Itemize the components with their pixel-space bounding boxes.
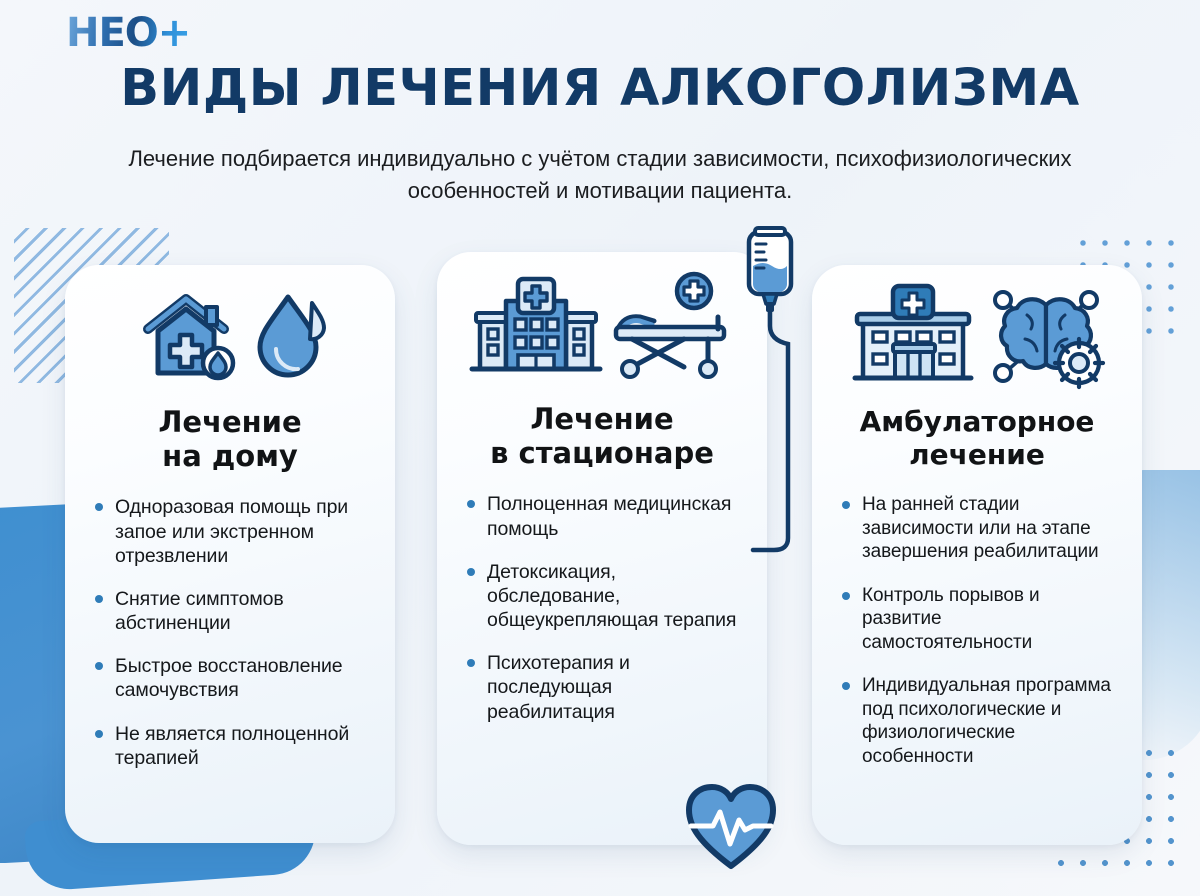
card-title-line-2: лечение <box>909 438 1045 471</box>
bullet-item: Контроль порывов и развитие самостоятель… <box>840 584 1116 655</box>
card-bullet-list: Одноразовая помощь при запое или экстрен… <box>89 495 371 770</box>
home-medical-icon <box>134 287 238 383</box>
card-title-line-1: Лечение <box>158 405 301 439</box>
bullet-item: Полноценная медицинская помощь <box>465 492 741 540</box>
card-title-line-1: Лечение <box>530 402 673 436</box>
card-title: Лечение на дому <box>89 405 371 473</box>
hospital-building-icon <box>470 275 602 379</box>
iv-drip-icon <box>735 228 805 558</box>
card-home-treatment[interactable]: Лечение на дому Одноразовая помощь при з… <box>65 265 395 843</box>
card-icon-group <box>836 265 1118 405</box>
bullet-item: Быстрое восстановление самочувствия <box>93 654 369 702</box>
card-bullet-list: На ранней стадии зависимости или на этап… <box>836 493 1118 768</box>
bullet-item: Снятие симптомов абстиненции <box>93 587 369 635</box>
card-inpatient-treatment[interactable]: Лечение в стационаре Полноценная медицин… <box>437 252 767 845</box>
card-title-line-2: в стационаре <box>490 436 714 470</box>
hospital-gurney-icon <box>608 271 734 383</box>
brain-gear-icon <box>987 283 1105 387</box>
bullet-item: Психотерапия и последующая реабилитация <box>465 651 741 724</box>
card-icon-group <box>461 252 743 402</box>
card-title-line-1: Амбулаторное <box>860 405 1095 438</box>
heart-pulse-decoration <box>683 782 779 872</box>
card-icon-group <box>89 265 371 405</box>
clinic-building-icon <box>849 284 977 386</box>
bullet-item: Детоксикация, обследование, общеукрепляю… <box>465 560 741 633</box>
card-outpatient-treatment[interactable]: Амбулаторное лечение На ранней стадии за… <box>812 265 1142 845</box>
card-title: Амбулаторное лечение <box>836 405 1118 471</box>
bullet-item: На ранней стадии зависимости или на этап… <box>840 493 1116 564</box>
bullet-item: Не является полноценной терапией <box>93 722 369 770</box>
cards-container: Лечение на дому Одноразовая помощь при з… <box>0 0 1200 896</box>
water-drop-icon <box>250 287 326 383</box>
bullet-item: Одноразовая помощь при запое или экстрен… <box>93 495 369 568</box>
iv-drip-decoration <box>735 228 805 558</box>
card-title: Лечение в стационаре <box>461 402 743 470</box>
card-title-line-2: на дому <box>162 439 298 473</box>
card-bullet-list: Полноценная медицинская помощь Детоксика… <box>461 492 743 723</box>
bullet-item: Индивидуальная программа под психологиче… <box>840 674 1116 768</box>
infographic-canvas: НЕО+ ВИДЫ ЛЕЧЕНИЯ АЛКОГОЛИЗМА Лечение по… <box>0 0 1200 896</box>
heart-pulse-icon <box>683 782 779 872</box>
